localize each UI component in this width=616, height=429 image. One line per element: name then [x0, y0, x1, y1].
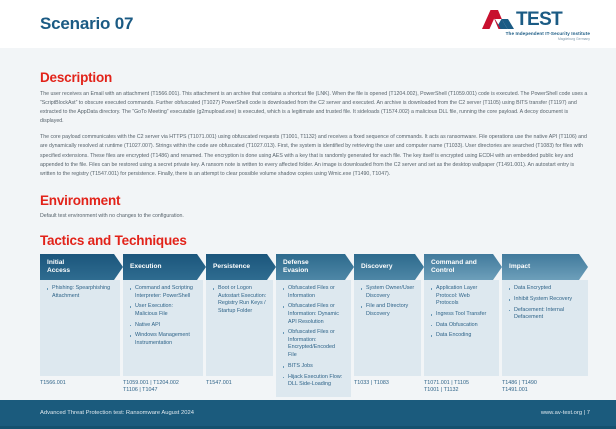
environment-heading: Environment: [40, 193, 588, 208]
technique-item: Boot or Logon Autostart Execution: Regis…: [212, 285, 267, 315]
technique-item: Data Encoding: [430, 332, 493, 340]
tactic-column-header: Command and Control: [424, 254, 502, 280]
technique-list: Obfuscated Files or InformationObfuscate…: [282, 285, 345, 389]
technique-item: User Execution: Malicious File: [129, 303, 197, 318]
tactic-column-header: Initial Access: [40, 254, 123, 280]
technique-item: Obfuscated Files or Information: [282, 285, 345, 300]
page-header: Scenario 07 TEST The Independent IT-Secu…: [0, 0, 616, 48]
footer-url-page[interactable]: www.av-test.org | 7: [541, 410, 590, 416]
av-test-logo: TEST The Independent IT-Security Institu…: [482, 10, 590, 40]
technique-item: Data Obfuscation: [430, 322, 493, 330]
tactic-column-header: Impact: [502, 254, 588, 280]
tactic-column-header: Execution: [123, 254, 206, 280]
description-paragraph-2: The core payload communicates with the C…: [40, 133, 588, 178]
technique-list: Phishing: Spearphishing Attachment: [46, 285, 114, 300]
tactic-column-header: Discovery: [354, 254, 424, 280]
tactic-technique-cell: Application Layer Protocol: Web Protocol…: [424, 280, 499, 376]
technique-item: Obfuscated Files or Information: Encrypt…: [282, 329, 345, 359]
technique-ids: T1547.001: [206, 376, 276, 387]
content-column: Description The user receives an Email w…: [40, 48, 588, 423]
technique-item: Data Encrypted: [508, 285, 582, 293]
technique-list: Boot or Logon Autostart Execution: Regis…: [212, 285, 267, 315]
page-title: Scenario 07: [40, 14, 133, 34]
environment-text: Default test environment with no changes…: [40, 212, 588, 221]
technique-item: Inhibit System Recovery: [508, 296, 582, 304]
logo-wordmark: TEST: [516, 10, 562, 29]
technique-item: Phishing: Spearphishing Attachment: [46, 285, 114, 300]
logo-wordmark-row: TEST: [482, 10, 590, 29]
technique-item: BITS Jobs: [282, 363, 345, 371]
tactic-technique-cell: System Owner/User DiscoveryFile and Dire…: [354, 280, 421, 376]
tactic-column: Defense EvasionObfuscated Files or Infor…: [276, 254, 354, 423]
tactic-column: PersistenceBoot or Logon Autostart Execu…: [206, 254, 276, 423]
technique-list: Command and Scripting Interpreter: Power…: [129, 285, 197, 348]
tactic-technique-cell: Command and Scripting Interpreter: Power…: [123, 280, 203, 376]
technique-list: Application Layer Protocol: Web Protocol…: [430, 285, 493, 340]
av-logo-mark-icon: [482, 10, 515, 29]
tactic-column: DiscoverySystem Owner/User DiscoveryFile…: [354, 254, 424, 423]
tactic-column: ExecutionCommand and Scripting Interpret…: [123, 254, 206, 423]
technique-item: Defacement: Internal Defacement: [508, 307, 582, 322]
technique-item: File and Directory Discovery: [360, 303, 415, 318]
tactic-column: Command and ControlApplication Layer Pro…: [424, 254, 502, 423]
technique-item: Ingress Tool Transfer: [430, 311, 493, 319]
technique-ids: T1059.001 | T1204.002 T1106 | T1047: [123, 376, 206, 395]
description-heading: Description: [40, 70, 588, 85]
technique-ids: T1566.001: [40, 376, 123, 387]
technique-item: Native API: [129, 322, 197, 330]
technique-ids: T1071.001 | T1105 T1001 | T1132: [424, 376, 502, 395]
tactic-column-header: Defense Evasion: [276, 254, 354, 280]
content-panel: Description The user receives an Email w…: [0, 48, 616, 400]
slide-page: Scenario 07 TEST The Independent IT-Secu…: [0, 0, 616, 429]
tactic-column-header: Persistence: [206, 254, 276, 280]
technique-list: System Owner/User DiscoveryFile and Dire…: [360, 285, 415, 319]
technique-list: Data EncryptedInhibit System RecoveryDef…: [508, 285, 582, 322]
tactic-column: ImpactData EncryptedInhibit System Recov…: [502, 254, 588, 423]
tactic-technique-cell: Obfuscated Files or InformationObfuscate…: [276, 280, 351, 397]
technique-ids: T1486 | T1490 T1491.001: [502, 376, 588, 395]
technique-item: Obfuscated Files or Information: Dynamic…: [282, 303, 345, 326]
technique-item: Hijack Execution Flow: DLL Side-Loading: [282, 374, 345, 389]
tactic-column: Initial AccessPhishing: Spearphishing At…: [40, 254, 123, 423]
logo-tagline: The Independent IT-Security Institute: [482, 31, 590, 36]
technique-item: Windows Management Instrumentation: [129, 332, 197, 347]
tactic-technique-cell: Data EncryptedInhibit System RecoveryDef…: [502, 280, 588, 376]
technique-item: System Owner/User Discovery: [360, 285, 415, 300]
technique-item: Application Layer Protocol: Web Protocol…: [430, 285, 493, 308]
tactics-heading: Tactics and Techniques: [40, 233, 588, 248]
tactics-columns: Initial AccessPhishing: Spearphishing At…: [40, 254, 588, 423]
tactics-table: Initial AccessPhishing: Spearphishing At…: [40, 254, 588, 423]
page-footer: Advanced Threat Protection test: Ransomw…: [0, 400, 616, 429]
logo-location: Magdeburg Germany: [482, 37, 590, 41]
technique-ids: T1033 | T1083: [354, 376, 424, 387]
description-paragraph-1: The user receives an Email with an attac…: [40, 90, 588, 126]
tactic-technique-cell: Boot or Logon Autostart Execution: Regis…: [206, 280, 273, 376]
footer-test-name: Advanced Threat Protection test: Ransomw…: [40, 410, 194, 416]
tactic-technique-cell: Phishing: Spearphishing Attachment: [40, 280, 120, 376]
technique-item: Command and Scripting Interpreter: Power…: [129, 285, 197, 300]
